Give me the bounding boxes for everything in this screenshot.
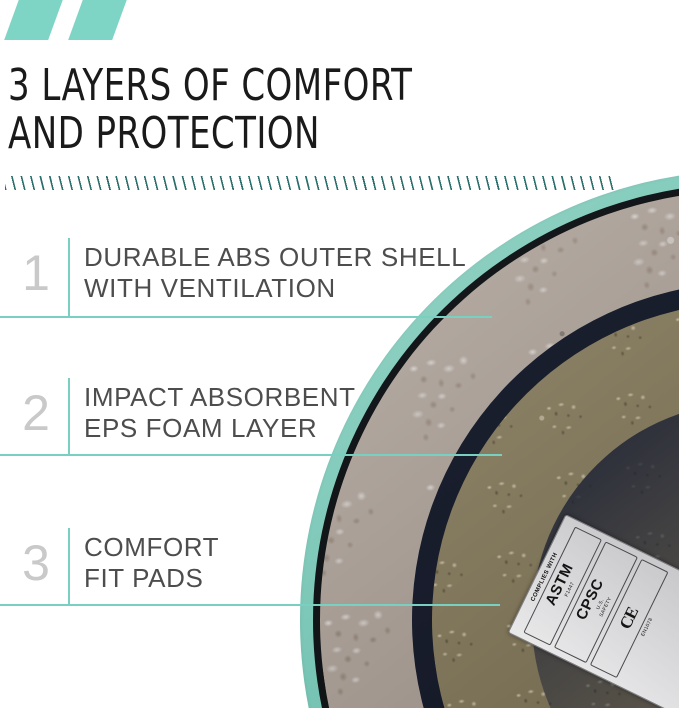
layer-label-2: IMPACT ABSORBENT EPS FOAM LAYER (84, 382, 356, 443)
cert-complies-text: COMPLIES WITH (516, 523, 573, 632)
quote-marks (14, 0, 122, 40)
layer-number-2: 2 (14, 388, 58, 438)
cert-ce-box: CE (589, 559, 668, 678)
quote-mark-icon-right (68, 0, 132, 40)
cert-standard-name: ASTM (528, 531, 591, 639)
cert-agency-scope: SAFETY (578, 555, 632, 658)
page-title: 3 LAYERS OF COMFORT AND PROTECTION (8, 62, 455, 157)
layer-number-1: 1 (14, 248, 58, 298)
ce-mark-icon: CE (595, 564, 662, 673)
cert-agency-region: U.S. (573, 553, 627, 656)
layer-vertical-rule-3 (68, 528, 70, 606)
layer-label-3: COMFORT FIT PADS (84, 532, 219, 593)
cert-standard-number: F1447 (542, 538, 596, 641)
layer-label-1: DURABLE ABS OUTER SHELL WITH VENTILATION (84, 242, 466, 303)
layer-underline-3 (0, 604, 500, 606)
layer-number-3: 3 (14, 538, 58, 588)
layer-vertical-rule-2 (68, 378, 70, 454)
comfort-pad-texture (391, 261, 679, 708)
quote-mark-icon-left (4, 0, 68, 40)
cert-agency-name: CPSC (559, 546, 622, 654)
helmet-comfort-pad-layer (391, 261, 679, 708)
cert-standard-box: ASTM F1447 (523, 526, 601, 645)
tick-divider (5, 176, 615, 190)
layer-underline-1 (0, 316, 492, 318)
cert-ce-standard: EN1078 (618, 573, 675, 682)
cert-agency-box: CPSC U.S. SAFETY (554, 541, 638, 663)
layer-vertical-rule-1 (68, 238, 70, 316)
helmet-inner-dark-band (368, 238, 679, 708)
layer-underline-2 (0, 454, 502, 456)
infographic-root: COMPLIES WITH ASTM F1447 CPSC U.S. SAFET… (0, 0, 679, 708)
certification-label: COMPLIES WITH ASTM F1447 CPSC U.S. SAFET… (508, 514, 679, 708)
helmet-core-shadow (504, 374, 679, 708)
